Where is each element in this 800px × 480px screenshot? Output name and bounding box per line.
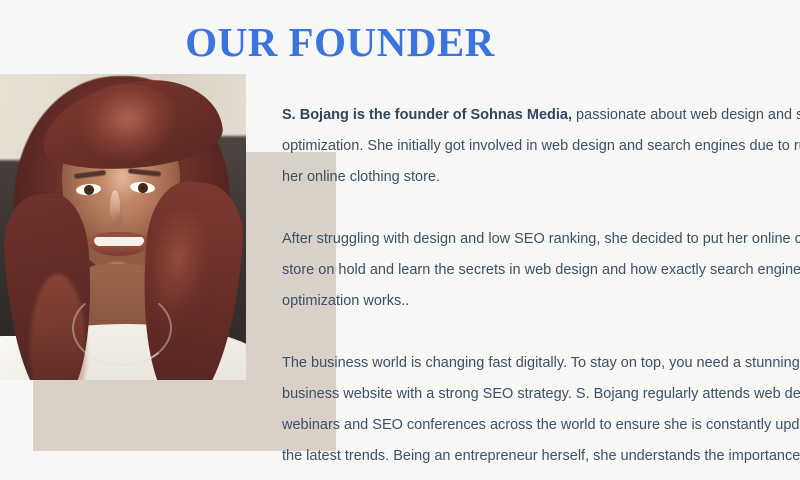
bio-lead-strong: S. Bojang is the founder of Sohnas Media…	[282, 107, 572, 123]
bio-p1-line-1-rest: passionate about web design and search e…	[572, 107, 800, 123]
bio-p2-line-3: optimization works..	[282, 286, 800, 317]
bio-p3-line-2: business website with a strong SEO strat…	[282, 379, 800, 410]
bio-p1-line-3: her online clothing store.	[282, 162, 800, 193]
page-title: OUR FOUNDER	[0, 18, 680, 66]
founder-photo-inner	[0, 74, 246, 380]
bio-p1-line-2: optimization. She initially got involved…	[282, 131, 800, 162]
founder-photo	[0, 74, 246, 380]
bio-p3-line-4: the latest trends. Being an entrepreneur…	[282, 441, 800, 472]
bio-p3-line-1: The business world is changing fast digi…	[282, 348, 800, 379]
bio-paragraph-3: The business world is changing fast digi…	[282, 348, 800, 480]
bio-paragraph-2: After struggling with design and low SEO…	[282, 224, 800, 317]
founder-bio-text: S. Bojang is the founder of Sohnas Media…	[282, 100, 800, 480]
bio-p2-line-2: store on hold and learn the secrets in w…	[282, 255, 800, 286]
founder-section: OUR FOUNDER	[0, 0, 800, 480]
bio-p2-line-1: After struggling with design and low SEO…	[282, 224, 800, 255]
bio-p3-line-3: webinars and SEO conferences across the …	[282, 410, 800, 441]
photo-grain-overlay	[0, 74, 246, 380]
bio-paragraph-1: S. Bojang is the founder of Sohnas Media…	[282, 100, 800, 193]
bio-p3-line-5: quality website.	[282, 472, 800, 480]
bio-p1-line-1: S. Bojang is the founder of Sohnas Media…	[282, 100, 800, 131]
